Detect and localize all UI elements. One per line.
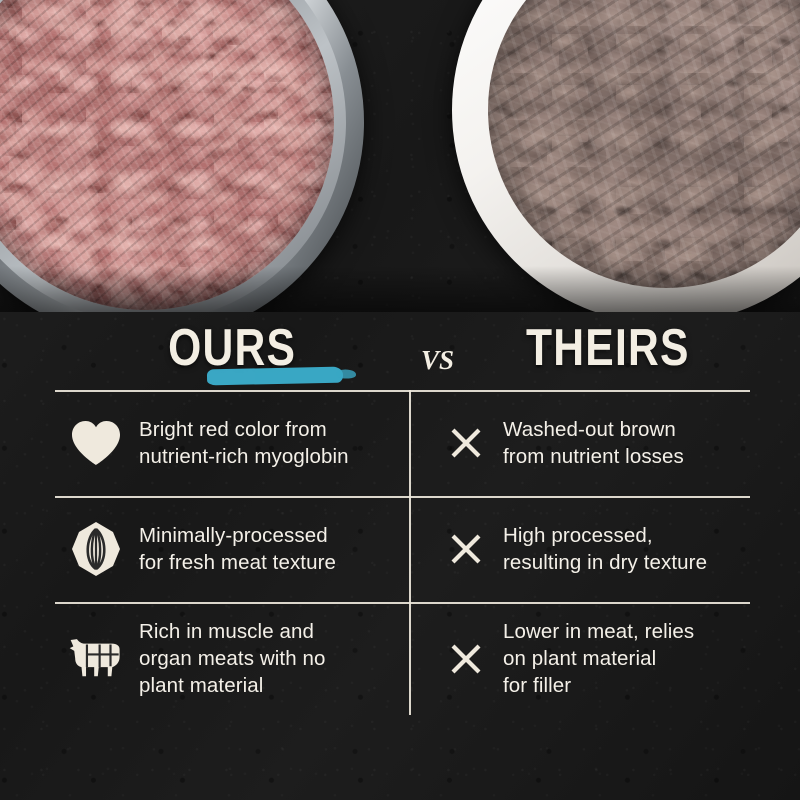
ours-cell-text: Minimally-processed for fresh meat textu… [139,522,336,576]
product-comparison-photo [0,0,800,312]
theirs-bowl-image [452,0,800,312]
ours-cell: Bright red color from nutrient-rich myog… [55,390,409,496]
theirs-cell-text: Lower in meat, relies on plant material … [503,618,694,699]
cross-icon [443,426,489,460]
ours-food-raw-meat [0,0,334,310]
theirs-cell: Lower in meat, relies on plant material … [409,602,750,715]
vs-divider-label: VS [410,320,465,388]
theirs-food-pate [488,0,800,288]
ours-cell: Minimally-processed for fresh meat textu… [55,496,409,602]
ours-column-header: OURS [55,320,410,376]
ours-cell-text: Rich in muscle and organ meats with no p… [139,618,326,699]
comparison-headings: OURS VS THEIRS [55,320,750,392]
table-row: Minimally-processed for fresh meat textu… [55,496,750,602]
page-background: OURS VS THEIRS [0,0,800,800]
table-row: Rich in muscle and organ meats with no p… [55,602,750,715]
ours-cell: Rich in muscle and organ meats with no p… [55,602,409,715]
theirs-cell-text: Washed-out brown from nutrient losses [503,416,684,470]
cross-icon [443,642,489,676]
vs-label: VS [421,320,454,388]
theirs-cell: High processed, resulting in dry texture [409,496,750,602]
ours-bowl-image [0,0,364,312]
ours-accent-underline [207,367,343,386]
muscle-fiber-icon [67,521,125,577]
theirs-cell-text: High processed, resulting in dry texture [503,522,707,576]
table-row: Bright red color from nutrient-rich myog… [55,390,750,496]
theirs-heading-label: THEIRS [526,320,690,376]
heart-icon [67,419,125,467]
ours-cell-text: Bright red color from nutrient-rich myog… [139,416,349,470]
theirs-column-header: THEIRS [465,320,750,376]
cow-cuts-icon [67,634,125,684]
theirs-cell: Washed-out brown from nutrient losses [409,390,750,496]
cross-icon [443,532,489,566]
comparison-section: OURS VS THEIRS [0,312,800,800]
